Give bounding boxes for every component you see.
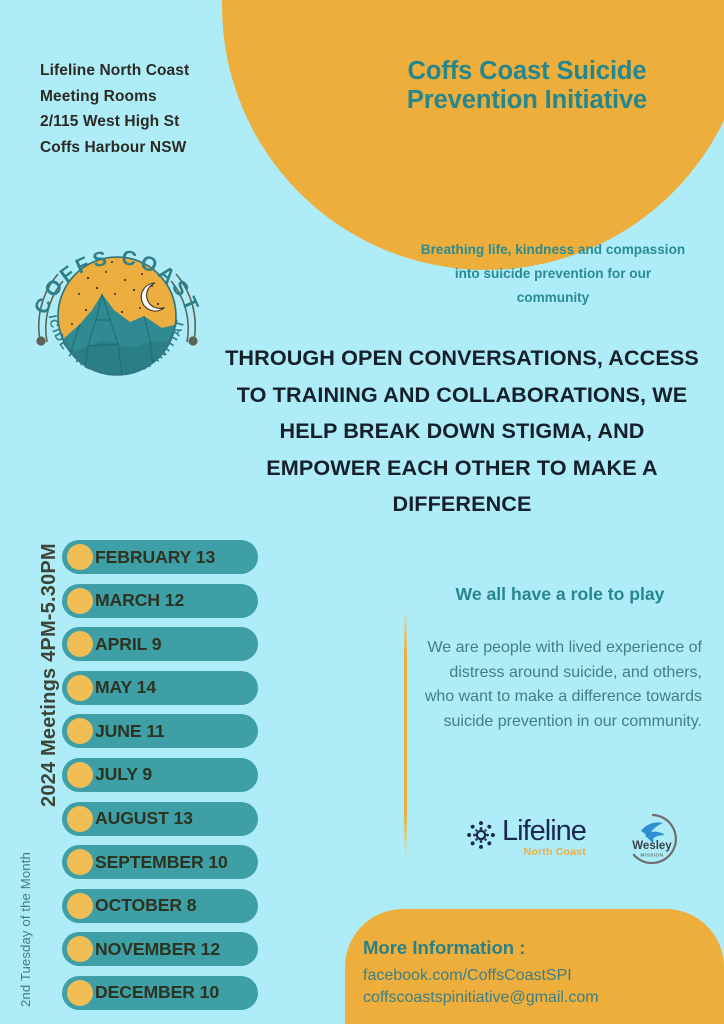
bullet-dot-icon [67, 544, 93, 570]
bullet-dot-icon [67, 718, 93, 744]
list-item[interactable]: NOVEMBER 12 [62, 932, 258, 966]
bullet-dot-icon [67, 849, 93, 875]
list-item[interactable]: SEPTEMBER 10 [62, 845, 258, 879]
list-item[interactable]: JUNE 11 [62, 714, 258, 748]
coffs-coast-spi-logo: COFFS COAST SUICIDE PREVENTION INITIATIV… [22, 228, 212, 400]
bullet-dot-icon [67, 762, 93, 788]
email-link[interactable]: coffscoastspinitiative@gmail.com [363, 987, 599, 1009]
wesley-subtitle: MISSION [641, 853, 664, 858]
meeting-date-label: OCTOBER 8 [95, 895, 196, 916]
list-item[interactable]: AUGUST 13 [62, 802, 258, 836]
wesley-mission-logo: Wesley MISSION [625, 812, 679, 866]
meeting-date-label: FEBRUARY 13 [95, 547, 215, 568]
role-body-text: We are people with lived experience of d… [420, 636, 702, 734]
facebook-link[interactable]: facebook.com/CoffsCoastSPI [363, 965, 599, 987]
role-heading: We all have a role to play [420, 584, 700, 605]
bullet-dot-icon [67, 936, 93, 962]
lifeline-name: Lifeline [502, 816, 586, 846]
lifeline-dots-icon [466, 820, 496, 855]
mission-statement: THROUGH OPEN CONVERSATIONS, ACCESS TO TR… [222, 340, 702, 523]
meetings-subtitle-vertical: 2nd Tuesday of the Month [18, 852, 33, 1007]
more-information-label: More Information : [363, 937, 525, 959]
meeting-date-label: SEPTEMBER 10 [95, 852, 228, 873]
meeting-date-label: MARCH 12 [95, 590, 184, 611]
meeting-date-label: JULY 9 [95, 764, 152, 785]
meeting-date-label: JUNE 11 [95, 721, 165, 742]
lifeline-wordmark: Lifeline North Coast [502, 816, 586, 858]
bullet-dot-icon [67, 893, 93, 919]
meeting-date-label: APRIL 9 [95, 634, 161, 655]
venue-line-1: Lifeline North Coast [40, 58, 270, 84]
meeting-date-label: AUGUST 13 [95, 808, 193, 829]
bullet-dot-icon [67, 631, 93, 657]
venue-line-3: 2/115 West High St [40, 109, 270, 135]
bullet-dot-icon [67, 588, 93, 614]
list-item[interactable]: MAY 14 [62, 671, 258, 705]
poster-canvas: Lifeline North Coast Meeting Rooms 2/115… [0, 0, 724, 1024]
venue-line-4: Coffs Harbour NSW [40, 135, 270, 161]
meeting-date-label: MAY 14 [95, 677, 156, 698]
list-item[interactable]: JULY 9 [62, 758, 258, 792]
lifeline-subtitle: North Coast [502, 846, 586, 858]
list-item[interactable]: MARCH 12 [62, 584, 258, 618]
tagline: Breathing life, kindness and compassion … [420, 238, 686, 310]
orange-divider-rule [404, 609, 407, 857]
list-item[interactable]: OCTOBER 8 [62, 889, 258, 923]
venue-address: Lifeline North Coast Meeting Rooms 2/115… [40, 58, 270, 160]
lifeline-north-coast-logo: Lifeline North Coast [466, 816, 586, 858]
meeting-date-label: DECEMBER 10 [95, 982, 219, 1003]
bullet-dot-icon [67, 980, 93, 1006]
list-item[interactable]: FEBRUARY 13 [62, 540, 258, 574]
bullet-dot-icon [67, 675, 93, 701]
bullet-dot-icon [67, 806, 93, 832]
contact-details: facebook.com/CoffsCoastSPI coffscoastspi… [363, 965, 599, 1009]
meeting-date-label: NOVEMBER 12 [95, 939, 220, 960]
partner-logos: Lifeline North Coast Wesley MISSION [466, 812, 686, 868]
meeting-dates-list: FEBRUARY 13 MARCH 12 APRIL 9 MAY 14 JUNE… [62, 540, 258, 1020]
orange-circle-decoration [222, 0, 724, 270]
wesley-name: Wesley [632, 840, 672, 852]
venue-line-2: Meeting Rooms [40, 84, 270, 110]
page-title: Coffs Coast Suicide Prevention Initiativ… [368, 57, 686, 115]
meetings-vertical-label: 2024 Meetings 4PM-5.30PM 2nd Tuesday of … [0, 520, 48, 1020]
meetings-title-vertical: 2024 Meetings 4PM-5.30PM [38, 543, 61, 807]
list-item[interactable]: DECEMBER 10 [62, 976, 258, 1010]
list-item[interactable]: APRIL 9 [62, 627, 258, 661]
